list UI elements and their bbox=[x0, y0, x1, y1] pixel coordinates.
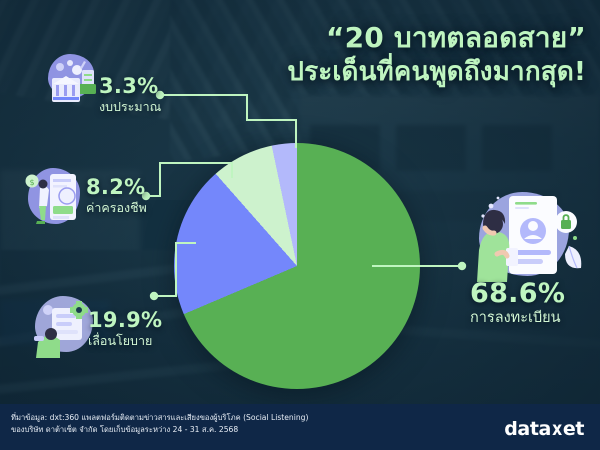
callout-register: 68.6% การลงทะเบียน bbox=[470, 280, 565, 327]
source-note: ที่มาข้อมูล: dxt:360 แพลตฟอร์มติดตามข่าว… bbox=[11, 412, 308, 436]
logo-text-x: x bbox=[552, 418, 562, 440]
svg-text:$: $ bbox=[29, 178, 34, 187]
callout-cost-name: ค่าครองชีพ bbox=[86, 201, 147, 215]
footer-bar: ที่มาข้อมูล: dxt:360 แพลตฟอร์มติดตามข่าว… bbox=[0, 404, 600, 450]
infographic-canvas: “20 บาทตลอดสาย” ประเด็นที่คนพูดถึงมากสุด… bbox=[0, 0, 600, 450]
callout-budget: 3.3% งบประมาณ bbox=[99, 76, 161, 114]
callout-register-name: การลงทะเบียน bbox=[470, 311, 565, 327]
callout-policy-name: เลื่อนโยบาย bbox=[88, 334, 162, 348]
callout-budget-percent: 3.3% bbox=[99, 76, 161, 97]
headline-line-1: “20 บาทตลอดสาย” bbox=[214, 22, 586, 54]
pie-chart bbox=[174, 143, 420, 389]
callout-cost: 8.2% ค่าครองชีพ bbox=[86, 177, 147, 215]
source-note-line-2: ของบริษัท ดาต้าเซ็ต จำกัด โดยเก็บข้อมูลร… bbox=[11, 424, 308, 436]
source-note-line-1: ที่มาข้อมูล: dxt:360 แพลตฟอร์มติดตามข่าว… bbox=[11, 412, 308, 424]
callout-policy: 19.9% เลื่อนโยบาย bbox=[88, 310, 162, 348]
dataxet-logo: dataxet bbox=[504, 418, 584, 440]
pie-disc bbox=[174, 143, 420, 389]
callout-policy-percent: 19.9% bbox=[88, 310, 162, 331]
logo-text-a: data bbox=[504, 418, 551, 440]
callout-register-percent: 68.6% bbox=[470, 280, 565, 307]
budget-illustration bbox=[46, 54, 102, 106]
cost-of-living-illustration: $ bbox=[22, 166, 84, 228]
registration-illustration bbox=[465, 188, 590, 284]
callout-cost-percent: 8.2% bbox=[86, 177, 147, 198]
headline-line-2: ประเด็นที่คนพูดถึงมากสุด! bbox=[214, 57, 586, 87]
logo-text-b: et bbox=[563, 418, 584, 440]
headline: “20 บาทตลอดสาย” ประเด็นที่คนพูดถึงมากสุด… bbox=[214, 22, 586, 88]
callout-budget-name: งบประมาณ bbox=[99, 100, 161, 114]
